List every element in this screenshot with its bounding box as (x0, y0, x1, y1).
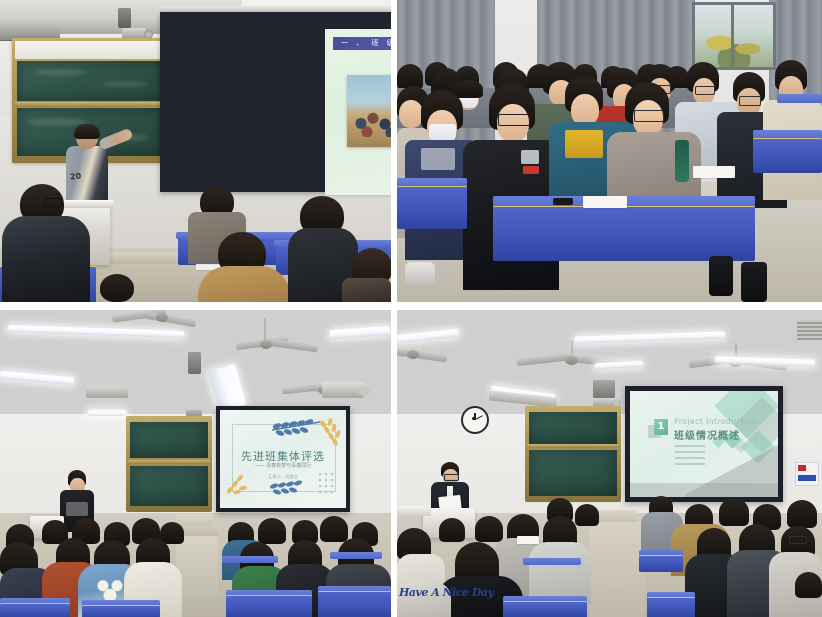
leaf-decor-icon (224, 466, 258, 498)
slide-section-label: 一 、 班 级 简 介 (341, 38, 391, 48)
audience-head (575, 504, 599, 526)
fan-hub (260, 340, 272, 349)
chalkboard-top-panel (15, 41, 164, 59)
hoodie-graphic (421, 148, 455, 170)
presenter-hair (74, 124, 100, 139)
glasses (444, 474, 459, 481)
desk-top (523, 558, 581, 565)
chalkboard-upper (529, 412, 617, 444)
glasses (498, 114, 530, 126)
bullet-line (675, 451, 705, 453)
chalk-mark (35, 69, 87, 76)
photo-top-left[interactable]: 一 、 班 级 简 介 （一）班级元素 ✦ 班级组成 本班级由来自全国各地的同学… (0, 0, 391, 302)
glasses (789, 536, 807, 544)
window-mullion (731, 5, 734, 67)
glasses (695, 86, 715, 95)
chalkboard-upper (17, 61, 162, 101)
chalk-rail (527, 444, 619, 448)
bullet-line (675, 445, 705, 447)
projector-lens-icon (358, 386, 370, 396)
bullet-line (675, 457, 705, 459)
floor-tile-line (609, 582, 625, 585)
projection-screen-frame: 1 Project Introduction 班级情况概述 (625, 386, 783, 502)
boot (741, 262, 767, 302)
audience-head (439, 518, 465, 542)
fan-hub (407, 350, 419, 359)
jacket-number: 20 (70, 171, 82, 181)
projection-screen-frame: 一 、 班 级 简 介 （一）班级元素 ✦ 班级组成 本班级由来自全国各地的同学… (160, 12, 391, 192)
desk-top (222, 556, 278, 563)
slide-bullet-lines (675, 445, 709, 471)
desk (397, 186, 467, 229)
glasses (739, 96, 761, 106)
boot (709, 256, 733, 296)
slide-number-badge: 1 (654, 419, 668, 435)
papers (517, 536, 539, 544)
projection-screen: 一 、 班 级 简 介 （一）班级元素 ✦ 班级组成 本班级由来自全国各地的同学… (325, 29, 391, 195)
audience-head (787, 500, 817, 528)
glasses (634, 110, 664, 122)
projection-screen: 1 Project Introduction 班级情况概述 (630, 391, 778, 497)
aisle (176, 536, 218, 598)
sneaker (405, 262, 435, 284)
chalkboard-upper (130, 422, 208, 458)
hoodie-graphic (94, 578, 126, 602)
fan-hub (156, 313, 168, 322)
audience-head (320, 516, 348, 542)
desk (647, 597, 695, 617)
photo-bottom-right[interactable]: 1 Project Introduction 班级情况概述 (397, 310, 822, 617)
ceiling-vent (797, 320, 822, 340)
photo-collage: 一 、 班 级 简 介 （一）班级元素 ✦ 班级组成 本班级由来自全国各地的同学… (0, 0, 822, 617)
wall-clock (461, 406, 489, 434)
hoodie-graphic (565, 130, 603, 158)
chalk-mark (103, 81, 147, 87)
slide-heading: （一）班级元素 (325, 57, 391, 68)
light-fixture (86, 386, 128, 398)
clock-center (472, 417, 475, 420)
desk (0, 603, 70, 617)
foliage (699, 27, 769, 67)
projection-screen: 先进班集体评选 —— 青春有梦与青春同行 汇报人：班委会 (220, 410, 346, 508)
student-hair (453, 80, 483, 98)
desk (639, 555, 683, 572)
audience-head (100, 274, 134, 302)
desk-top (330, 552, 382, 559)
chalkboard-lower (130, 466, 208, 506)
papers (693, 166, 735, 178)
slide-chinese-title: 班级情况概述 (674, 427, 740, 442)
dots-decor-icon (316, 468, 344, 500)
audience-head (795, 572, 822, 598)
jacket-patch (521, 150, 539, 164)
bullet-line (675, 463, 705, 465)
desk-top (777, 94, 822, 103)
wall-notice (795, 462, 819, 486)
photo-bottom-left[interactable]: 先进班集体评选 —— 青春有梦与青春同行 汇报人：班委会 (0, 310, 391, 617)
slide-english-title: Project Introduction (674, 417, 757, 426)
leaf-decor-icon (316, 418, 346, 452)
desk (493, 206, 755, 261)
notice-red-block (798, 465, 806, 471)
audience-head (719, 498, 749, 526)
hoodie-graphic (66, 502, 88, 516)
water-bottle (675, 140, 689, 182)
photo-top-right[interactable] (397, 0, 822, 302)
desk (318, 591, 391, 617)
fan-hub (565, 356, 578, 365)
desk (82, 605, 160, 617)
speaker-icon (118, 8, 131, 28)
projection-screen-frame: 先进班集体评选 —— 青春有梦与青春同行 汇报人：班委会 (216, 406, 350, 512)
window (692, 2, 776, 70)
ceiling-light (88, 410, 126, 416)
audience-body (342, 278, 391, 302)
crowd-shape (351, 103, 391, 137)
chalk-rail (128, 460, 210, 464)
slide-byline: 汇报人：班委会 (220, 474, 346, 480)
glasses (44, 198, 62, 207)
desk (503, 601, 587, 617)
student-face (399, 100, 423, 128)
jacket-patch-red (523, 166, 539, 174)
slide-subtitle: —— 青春有梦与青春同行 (220, 462, 346, 469)
hoodie-text: Have A Nice Day (399, 586, 493, 599)
desk (753, 138, 822, 173)
aisle (589, 522, 645, 617)
desk (226, 595, 312, 617)
papers (583, 196, 627, 208)
fan-rod (264, 318, 266, 340)
notice-blue-bar (798, 475, 816, 481)
audience-body (2, 216, 90, 302)
chalkboard-lower (529, 450, 617, 496)
smartphone (553, 198, 573, 205)
audience-head (258, 518, 286, 544)
speaker-icon (188, 352, 201, 374)
chalk-rail (15, 102, 164, 107)
slide-group-photo (347, 75, 391, 147)
audience-head (475, 516, 503, 542)
audience-body (529, 542, 591, 604)
slide-decor-band (630, 483, 778, 497)
audience-body (198, 266, 290, 302)
speaker-icon (593, 380, 615, 398)
front-table (397, 506, 431, 516)
podium-top (58, 200, 114, 208)
